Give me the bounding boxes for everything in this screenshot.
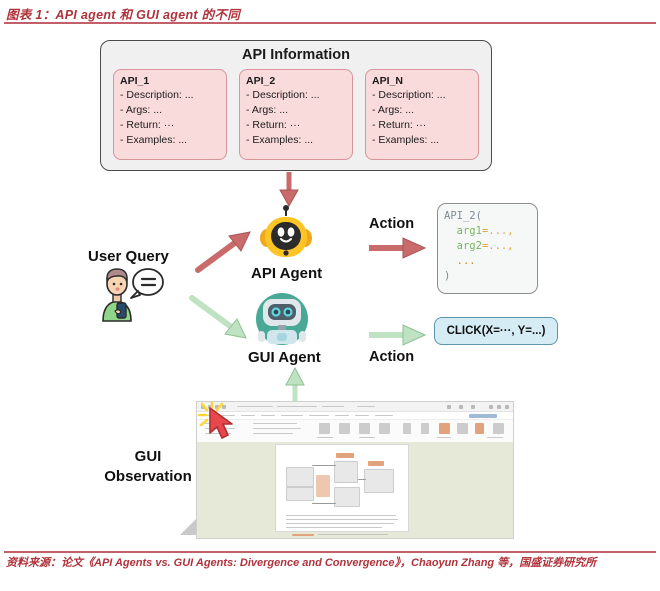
api-agent-robot-icon [258,205,314,261]
code-arg-name: arg2 [457,240,482,252]
code-ellipsis: ... [457,255,476,267]
api-card: API_2 - Description: ... - Args: ... - R… [239,69,353,160]
api-card: API_N - Description: ... - Args: ... - R… [365,69,479,160]
api-card-line: - Args: ... [120,103,221,118]
gui-agent-label: GUI Agent [248,349,321,366]
api-card-line: - Args: ... [246,103,347,118]
api-card-line: - Examples: ... [372,133,473,148]
header-divider [4,22,656,24]
api-card-line: - Description: ... [372,88,473,103]
screenshot-menubar [197,412,513,420]
screenshot-titlebar [197,402,513,412]
mouse-cursor-icon [207,406,237,440]
gui-observation-screenshot [196,401,514,539]
figure-title: 图表 1：API agent 和 GUI agent 的不同 [6,4,240,23]
code-close-paren: ) [444,270,450,282]
screenshot-document-page [275,444,409,532]
arrow-user-to-gui-agent [190,296,252,340]
api-card-name: API_1 [120,74,221,88]
api-card: API_1 - Description: ... - Args: ... - R… [113,69,227,160]
action-bottom-label: Action [369,349,414,365]
gui-agent-robot-icon [252,291,312,347]
api-agent-label: API Agent [251,265,322,282]
figure-canvas: 图表 1：API agent 和 GUI agent 的不同 API Infor… [0,0,660,591]
api-call-code-block: API_2( arg1=..., arg2=..., ... ) [437,203,538,294]
click-action-box: CLICK(X=···, Y=...) [434,317,558,345]
footer-divider [4,551,656,553]
api-card-line: - Return: ··· [372,118,473,133]
screenshot-ribbon [197,420,513,443]
api-information-title: API Information [101,47,491,63]
api-information-panel: API Information API_1 - Description: ...… [100,40,492,171]
api-card-name: API_2 [246,74,347,88]
source-note: 资料来源：论文《API Agents vs. GUI Agents: Diver… [6,556,654,572]
api-card-line: - Return: ··· [120,118,221,133]
code-function-name: API_2( [444,210,482,222]
user-person-icon [97,265,167,323]
code-arg-value: =..., [482,225,514,237]
screenshot-right-pane [467,442,513,538]
screenshot-document-area [197,442,513,538]
code-arg-name: arg1 [457,225,482,237]
arrow-gui-agent-to-click [367,323,429,347]
api-card-list: API_1 - Description: ... - Args: ... - R… [113,69,479,160]
code-arg-value: =..., [482,240,514,252]
api-card-line: - Description: ... [120,88,221,103]
api-card-name: API_N [372,74,473,88]
api-card-line: - Examples: ... [120,133,221,148]
arrow-gui-observation-to-gui-agent [283,368,307,404]
click-action-text: CLICK(X=···, Y=...) [447,325,546,337]
action-top-label: Action [369,216,414,232]
api-card-line: - Return: ··· [246,118,347,133]
api-card-line: - Examples: ... [246,133,347,148]
arrow-user-to-api-agent [196,232,254,274]
api-card-line: - Args: ... [372,103,473,118]
arrow-api-agent-to-code [367,236,429,260]
api-card-line: - Description: ... [246,88,347,103]
user-query-label: User Query [88,248,169,265]
